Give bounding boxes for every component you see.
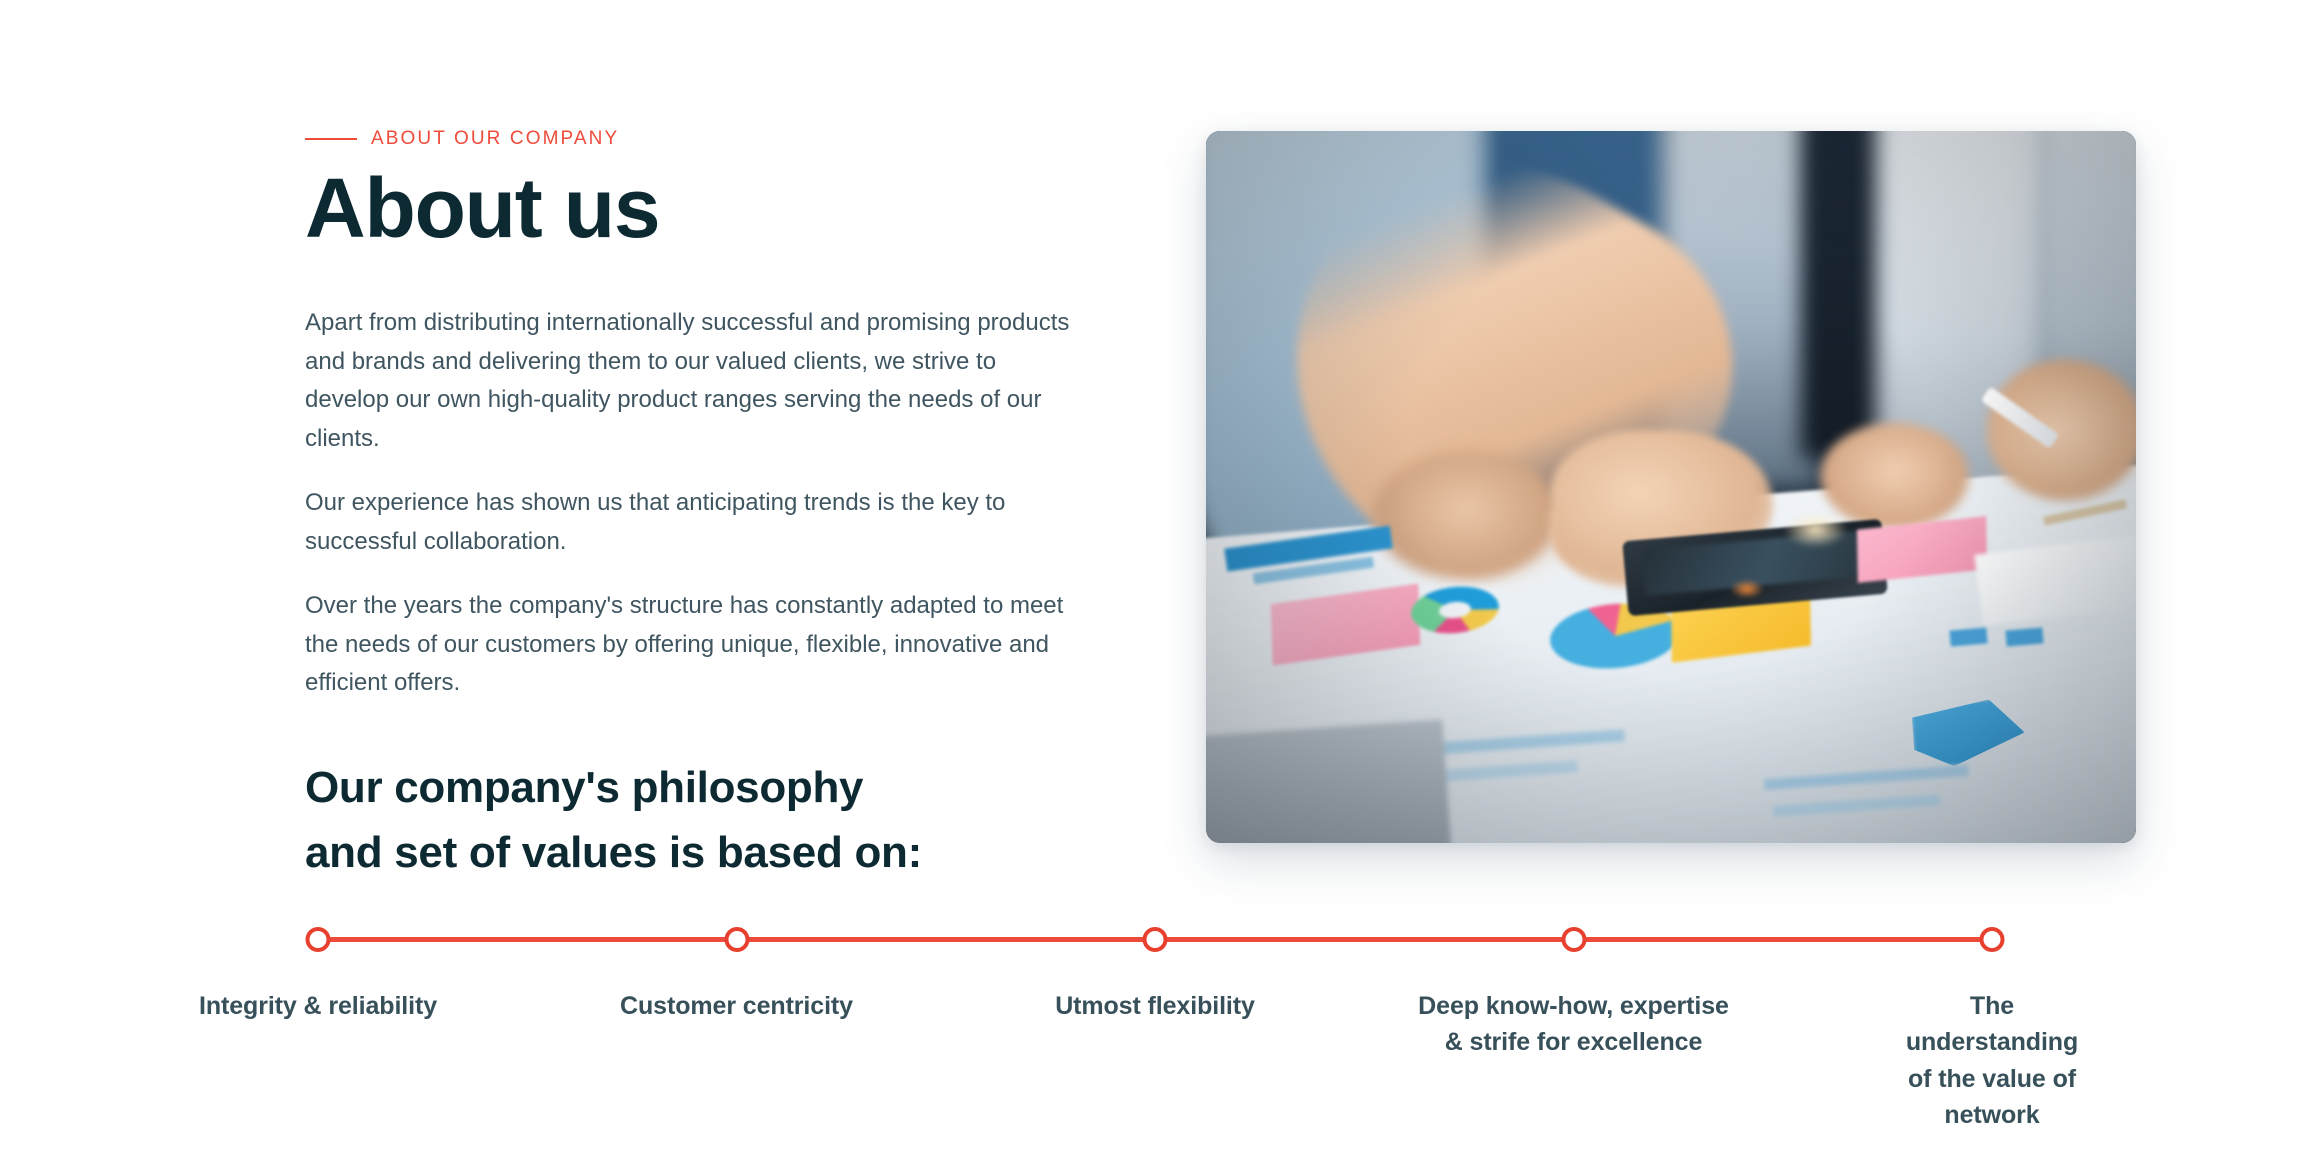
eyebrow-dash-icon: [305, 138, 357, 140]
timeline-label: Deep know-how, expertise & strife for ex…: [1418, 988, 1729, 1061]
about-paragraph-1: Apart from distributing internationally …: [305, 304, 1075, 458]
timeline-label: Integrity & reliability: [199, 988, 437, 1024]
about-text-column: ABOUT OUR COMPANY About us Apart from di…: [305, 128, 1075, 885]
timeline-label: The understanding of the value of networ…: [1906, 988, 2078, 1133]
section-eyebrow: ABOUT OUR COMPANY: [305, 128, 1075, 150]
timeline-dot[interactable]: [1561, 927, 1586, 952]
about-photo-card: [1206, 131, 2136, 843]
team-meeting-photo: [1206, 131, 2136, 843]
timeline-dot[interactable]: [306, 927, 331, 952]
values-timeline: Integrity & reliabilityCustomer centrici…: [305, 915, 2005, 1115]
about-paragraph-3: Over the years the company's structure h…: [305, 587, 1075, 703]
philosophy-heading: Our company's philosophy and set of valu…: [305, 755, 1075, 885]
eyebrow-label: ABOUT OUR COMPANY: [371, 128, 619, 150]
timeline-label: Utmost flexibility: [1055, 988, 1255, 1024]
page-title: About us: [305, 164, 1075, 252]
timeline-dot[interactable]: [1980, 927, 2005, 952]
about-paragraph-2: Our experience has shown us that anticip…: [305, 484, 1075, 561]
timeline-dot[interactable]: [1143, 927, 1168, 952]
timeline-label: Customer centricity: [620, 988, 853, 1024]
about-us-section: ABOUT OUR COMPANY About us Apart from di…: [0, 0, 2314, 1159]
timeline-dots: [305, 927, 2005, 953]
timeline-dot[interactable]: [724, 927, 749, 952]
